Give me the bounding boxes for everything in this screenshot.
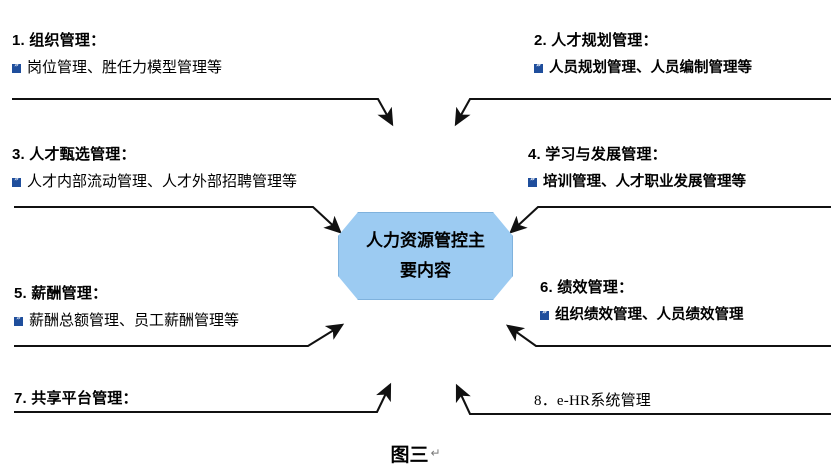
node-8-title: 8．e-HR系统管理 [534, 392, 651, 410]
node-8-ehr-system-management[interactable]: 8．e-HR系统管理 [534, 392, 651, 410]
bullet-arrow-icon [540, 311, 549, 320]
node-4-detail-text: 培训管理、人才职业发展管理等 [543, 173, 746, 191]
node-2-detail: 人员规划管理、人员编制管理等 [534, 59, 752, 77]
node-6-detail-text: 组织绩效管理、人员绩效管理 [555, 306, 744, 324]
connector-arrow-3 [14, 207, 340, 232]
node-5-compensation-management[interactable]: 5. 薪酬管理： 薪酬总额管理、员工薪酬管理等 [14, 285, 239, 330]
node-3-detail-text: 人才内部流动管理、人才外部招聘管理等 [27, 173, 297, 191]
figure-caption-text: 图三 [390, 445, 428, 466]
node-7-shared-platform-management[interactable]: 7. 共享平台管理： [14, 390, 138, 408]
node-6-detail: 组织绩效管理、人员绩效管理 [540, 306, 744, 324]
node-2-talent-planning-management[interactable]: 2. 人才规划管理： 人员规划管理、人员编制管理等 [534, 32, 752, 77]
bullet-arrow-icon [12, 64, 21, 73]
node-2-detail-text: 人员规划管理、人员编制管理等 [549, 59, 752, 77]
node-3-detail: 人才内部流动管理、人才外部招聘管理等 [12, 173, 297, 191]
node-1-detail-text: 岗位管理、胜任力模型管理等 [27, 59, 222, 77]
figure-caption: 图三↵ [0, 440, 831, 467]
bullet-arrow-icon [14, 317, 23, 326]
node-5-detail: 薪酬总额管理、员工薪酬管理等 [14, 312, 239, 330]
connector-arrow-2 [456, 99, 831, 124]
node-1-organization-management[interactable]: 1. 组织管理： 岗位管理、胜任力模型管理等 [12, 32, 222, 77]
diagram-canvas: 人力资源管控主要内容 1. 组织管理： 岗位管理、胜任力模型管理等 2. 人才规… [0, 0, 831, 474]
bullet-arrow-icon [528, 178, 537, 187]
node-4-detail: 培训管理、人才职业发展管理等 [528, 173, 746, 191]
bullet-arrow-icon [12, 178, 21, 187]
node-3-talent-selection-management[interactable]: 3. 人才甄选管理： 人才内部流动管理、人才外部招聘管理等 [12, 146, 297, 191]
node-7-title: 7. 共享平台管理： [14, 390, 138, 408]
center-node-octagon[interactable]: 人力资源管控主要内容 [338, 212, 513, 300]
node-1-title: 1. 组织管理： [12, 32, 222, 50]
node-6-title: 6. 绩效管理： [540, 279, 744, 297]
center-node-label: 人力资源管控主要内容 [360, 226, 492, 286]
node-4-learning-development-management[interactable]: 4. 学习与发展管理： 培训管理、人才职业发展管理等 [528, 146, 746, 191]
node-6-performance-management[interactable]: 6. 绩效管理： 组织绩效管理、人员绩效管理 [540, 279, 744, 324]
paragraph-mark-icon: ↵ [430, 446, 440, 460]
node-4-title: 4. 学习与发展管理： [528, 146, 746, 164]
node-1-detail: 岗位管理、胜任力模型管理等 [12, 59, 222, 77]
connector-arrow-4 [511, 207, 831, 232]
node-5-title: 5. 薪酬管理： [14, 285, 239, 303]
bullet-arrow-icon [534, 64, 543, 73]
node-5-detail-text: 薪酬总额管理、员工薪酬管理等 [29, 312, 239, 330]
connector-arrow-1 [12, 99, 392, 124]
connector-arrow-6 [508, 326, 831, 346]
node-3-title: 3. 人才甄选管理： [12, 146, 297, 164]
node-2-title: 2. 人才规划管理： [534, 32, 752, 50]
